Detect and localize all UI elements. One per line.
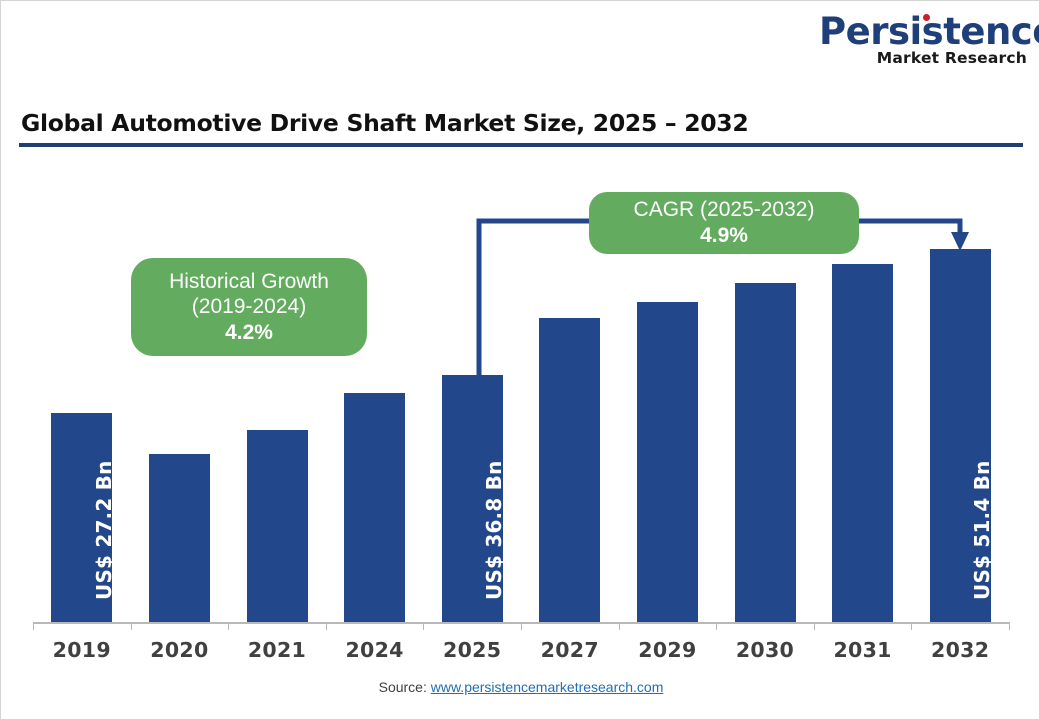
source-prefix: Source:	[379, 679, 427, 695]
cagr-connector-arrow	[1, 1, 1040, 720]
x-axis-line	[33, 622, 1009, 624]
cagr-value: 4.9%	[700, 223, 748, 249]
source-link[interactable]: www.persistencemarketresearch.com	[431, 679, 664, 695]
historical-growth-value: 4.2%	[225, 320, 273, 346]
chart-page: Persistence Market Research Global Autom…	[0, 0, 1040, 720]
historical-growth-callout: Historical Growth (2019-2024) 4.2%	[131, 258, 367, 356]
cagr-callout: CAGR (2025-2032) 4.9%	[589, 192, 859, 254]
cagr-line1: CAGR (2025-2032)	[634, 197, 815, 223]
historical-growth-line1: Historical Growth	[169, 269, 329, 295]
historical-growth-line2: (2019-2024)	[192, 294, 306, 320]
source-line: Source: www.persistencemarketresearch.co…	[1, 679, 1040, 695]
